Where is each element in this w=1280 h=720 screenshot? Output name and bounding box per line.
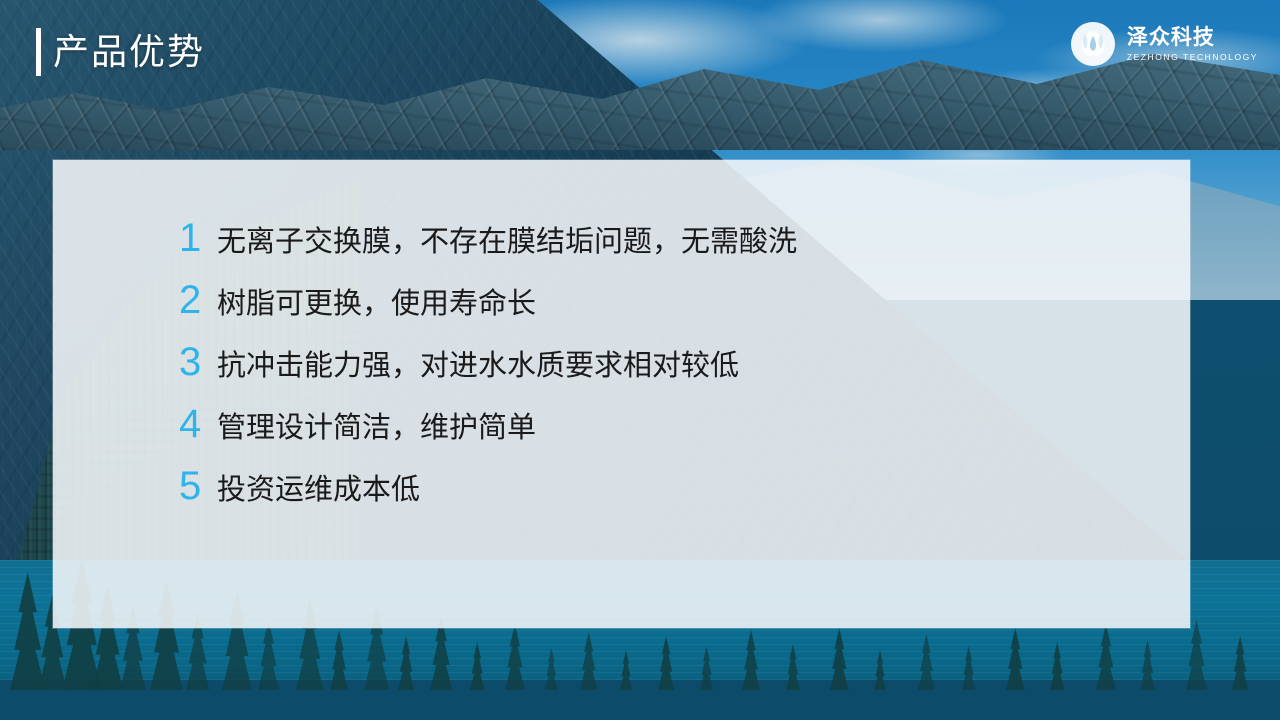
list-item-number: 5 [179,466,213,506]
list-item-text: 树脂可更换，使用寿命长 [217,289,536,321]
list-item-number: 1 [179,218,213,258]
advantages-list: 1无离子交换膜，不存在膜结垢问题，无需酸洗2树脂可更换，使用寿命长3抗冲击能力强… [179,218,1160,527]
list-item-text: 投资运维成本低 [217,475,420,507]
company-logo: 泽众科技 ZEZHONG TECHNOLOGY [1069,20,1258,68]
list-item-number: 2 [179,280,213,320]
content-panel: 1无离子交换膜，不存在膜结垢问题，无需酸洗2树脂可更换，使用寿命长3抗冲击能力强… [53,160,1190,628]
list-item-number: 3 [179,342,213,382]
logo-name-en: ZEZHONG TECHNOLOGY [1127,53,1258,62]
water-drop-lotus-icon [1069,20,1117,68]
list-item: 1无离子交换膜，不存在膜结垢问题，无需酸洗 [179,218,1160,259]
logo-name-cn: 泽众科技 [1127,27,1258,48]
list-item-text: 抗冲击能力强，对进水水质要求相对较低 [217,351,739,383]
list-item: 3抗冲击能力强，对进水水质要求相对较低 [179,342,1160,383]
list-item: 4管理设计简洁，维护简单 [179,404,1160,445]
list-item-text: 无离子交换膜，不存在膜结垢问题，无需酸洗 [217,227,797,259]
list-item-text: 管理设计简洁，维护简单 [217,413,536,445]
page-title: 产品优势 [53,34,205,70]
slide-header: 产品优势 [36,28,205,76]
presentation-slide: 产品优势 泽众科技 ZEZHONG TECHNOLOGY 1无离子交换膜，不存在… [0,0,1280,720]
list-item-number: 4 [179,404,213,444]
title-accent-bar [36,28,41,76]
logo-wordmark: 泽众科技 ZEZHONG TECHNOLOGY [1127,27,1258,62]
list-item: 5投资运维成本低 [179,466,1160,507]
list-item: 2树脂可更换，使用寿命长 [179,280,1160,321]
